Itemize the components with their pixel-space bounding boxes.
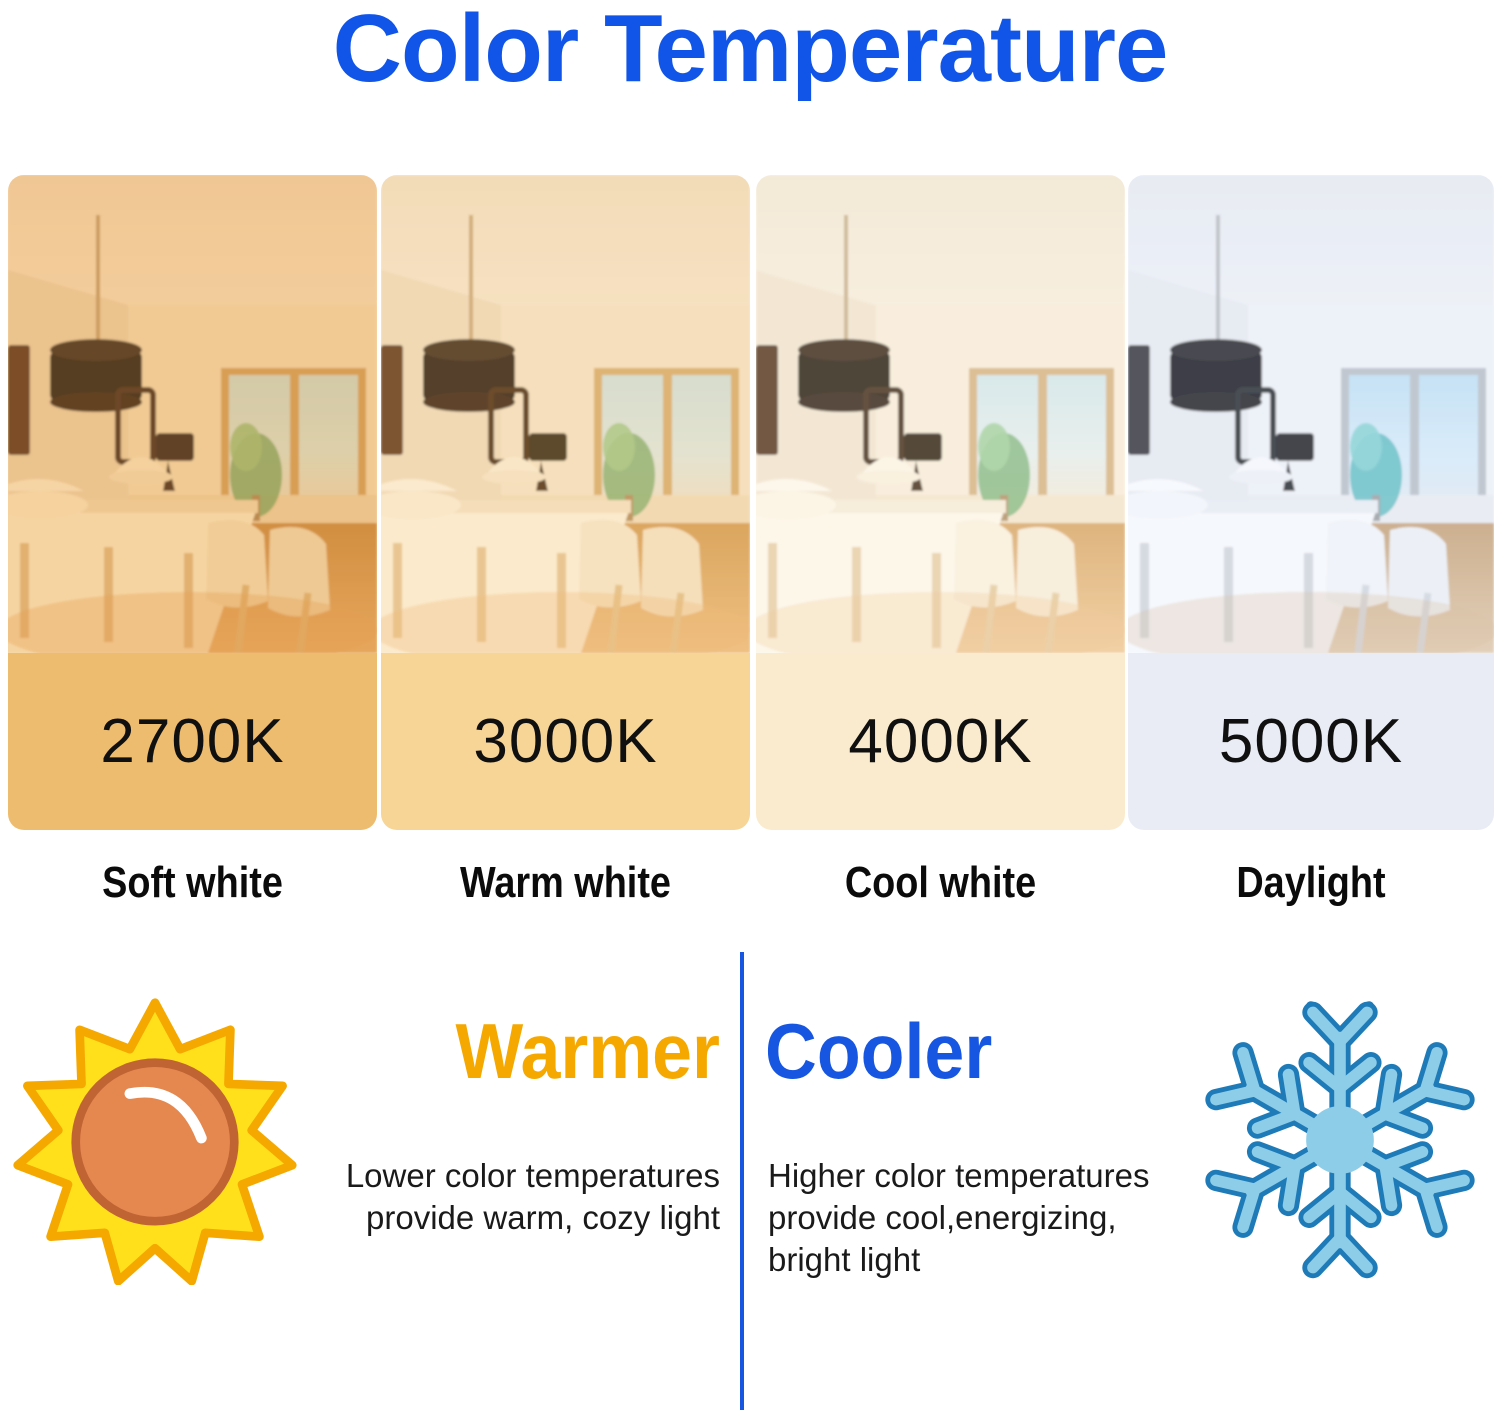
cooler-description: Higher color temperatures provide cool,e…	[768, 1155, 1183, 1281]
caption-cool-white: Cool white	[782, 855, 1099, 915]
temperature-panel-5000k[interactable]: 5000K	[1128, 175, 1494, 830]
page-title: Color Temperature	[0, 0, 1500, 104]
temperature-panel-2700k[interactable]: 2700K	[8, 175, 377, 830]
caption-row: Soft white Warm white Cool white Dayligh…	[0, 855, 1500, 915]
kelvin-value-swatch-3000k: 3000K	[381, 653, 750, 830]
room-photo-4000k	[756, 175, 1125, 653]
cooler-heading: Cooler	[765, 1005, 1133, 1100]
color-temperature-panel-row: 2700K	[0, 175, 1500, 835]
kelvin-value-swatch-4000k: 4000K	[756, 653, 1125, 830]
kelvin-label: 3000K	[473, 706, 657, 777]
kelvin-label: 4000K	[848, 706, 1032, 777]
kelvin-value-swatch-5000k: 5000K	[1128, 653, 1494, 830]
temperature-panel-4000k[interactable]: 4000K	[756, 175, 1125, 830]
kelvin-label: 2700K	[100, 706, 284, 777]
caption-soft-white: Soft white	[34, 855, 351, 915]
room-photo-3000k	[381, 175, 750, 653]
caption-warm-white: Warm white	[407, 855, 724, 915]
vertical-divider	[740, 952, 744, 1410]
room-photo-5000k	[1128, 175, 1494, 653]
warmer-heading: Warmer	[352, 1005, 720, 1100]
sun-icon	[10, 995, 300, 1285]
kelvin-label: 5000K	[1219, 706, 1403, 777]
warmer-description: Lower color temperatures provide warm, c…	[305, 1155, 720, 1239]
caption-daylight: Daylight	[1154, 855, 1469, 915]
kelvin-value-swatch-2700k: 2700K	[8, 653, 377, 830]
snowflake-icon	[1195, 995, 1485, 1285]
temperature-panel-3000k[interactable]: 3000K	[381, 175, 750, 830]
room-photo-2700k	[8, 175, 377, 653]
